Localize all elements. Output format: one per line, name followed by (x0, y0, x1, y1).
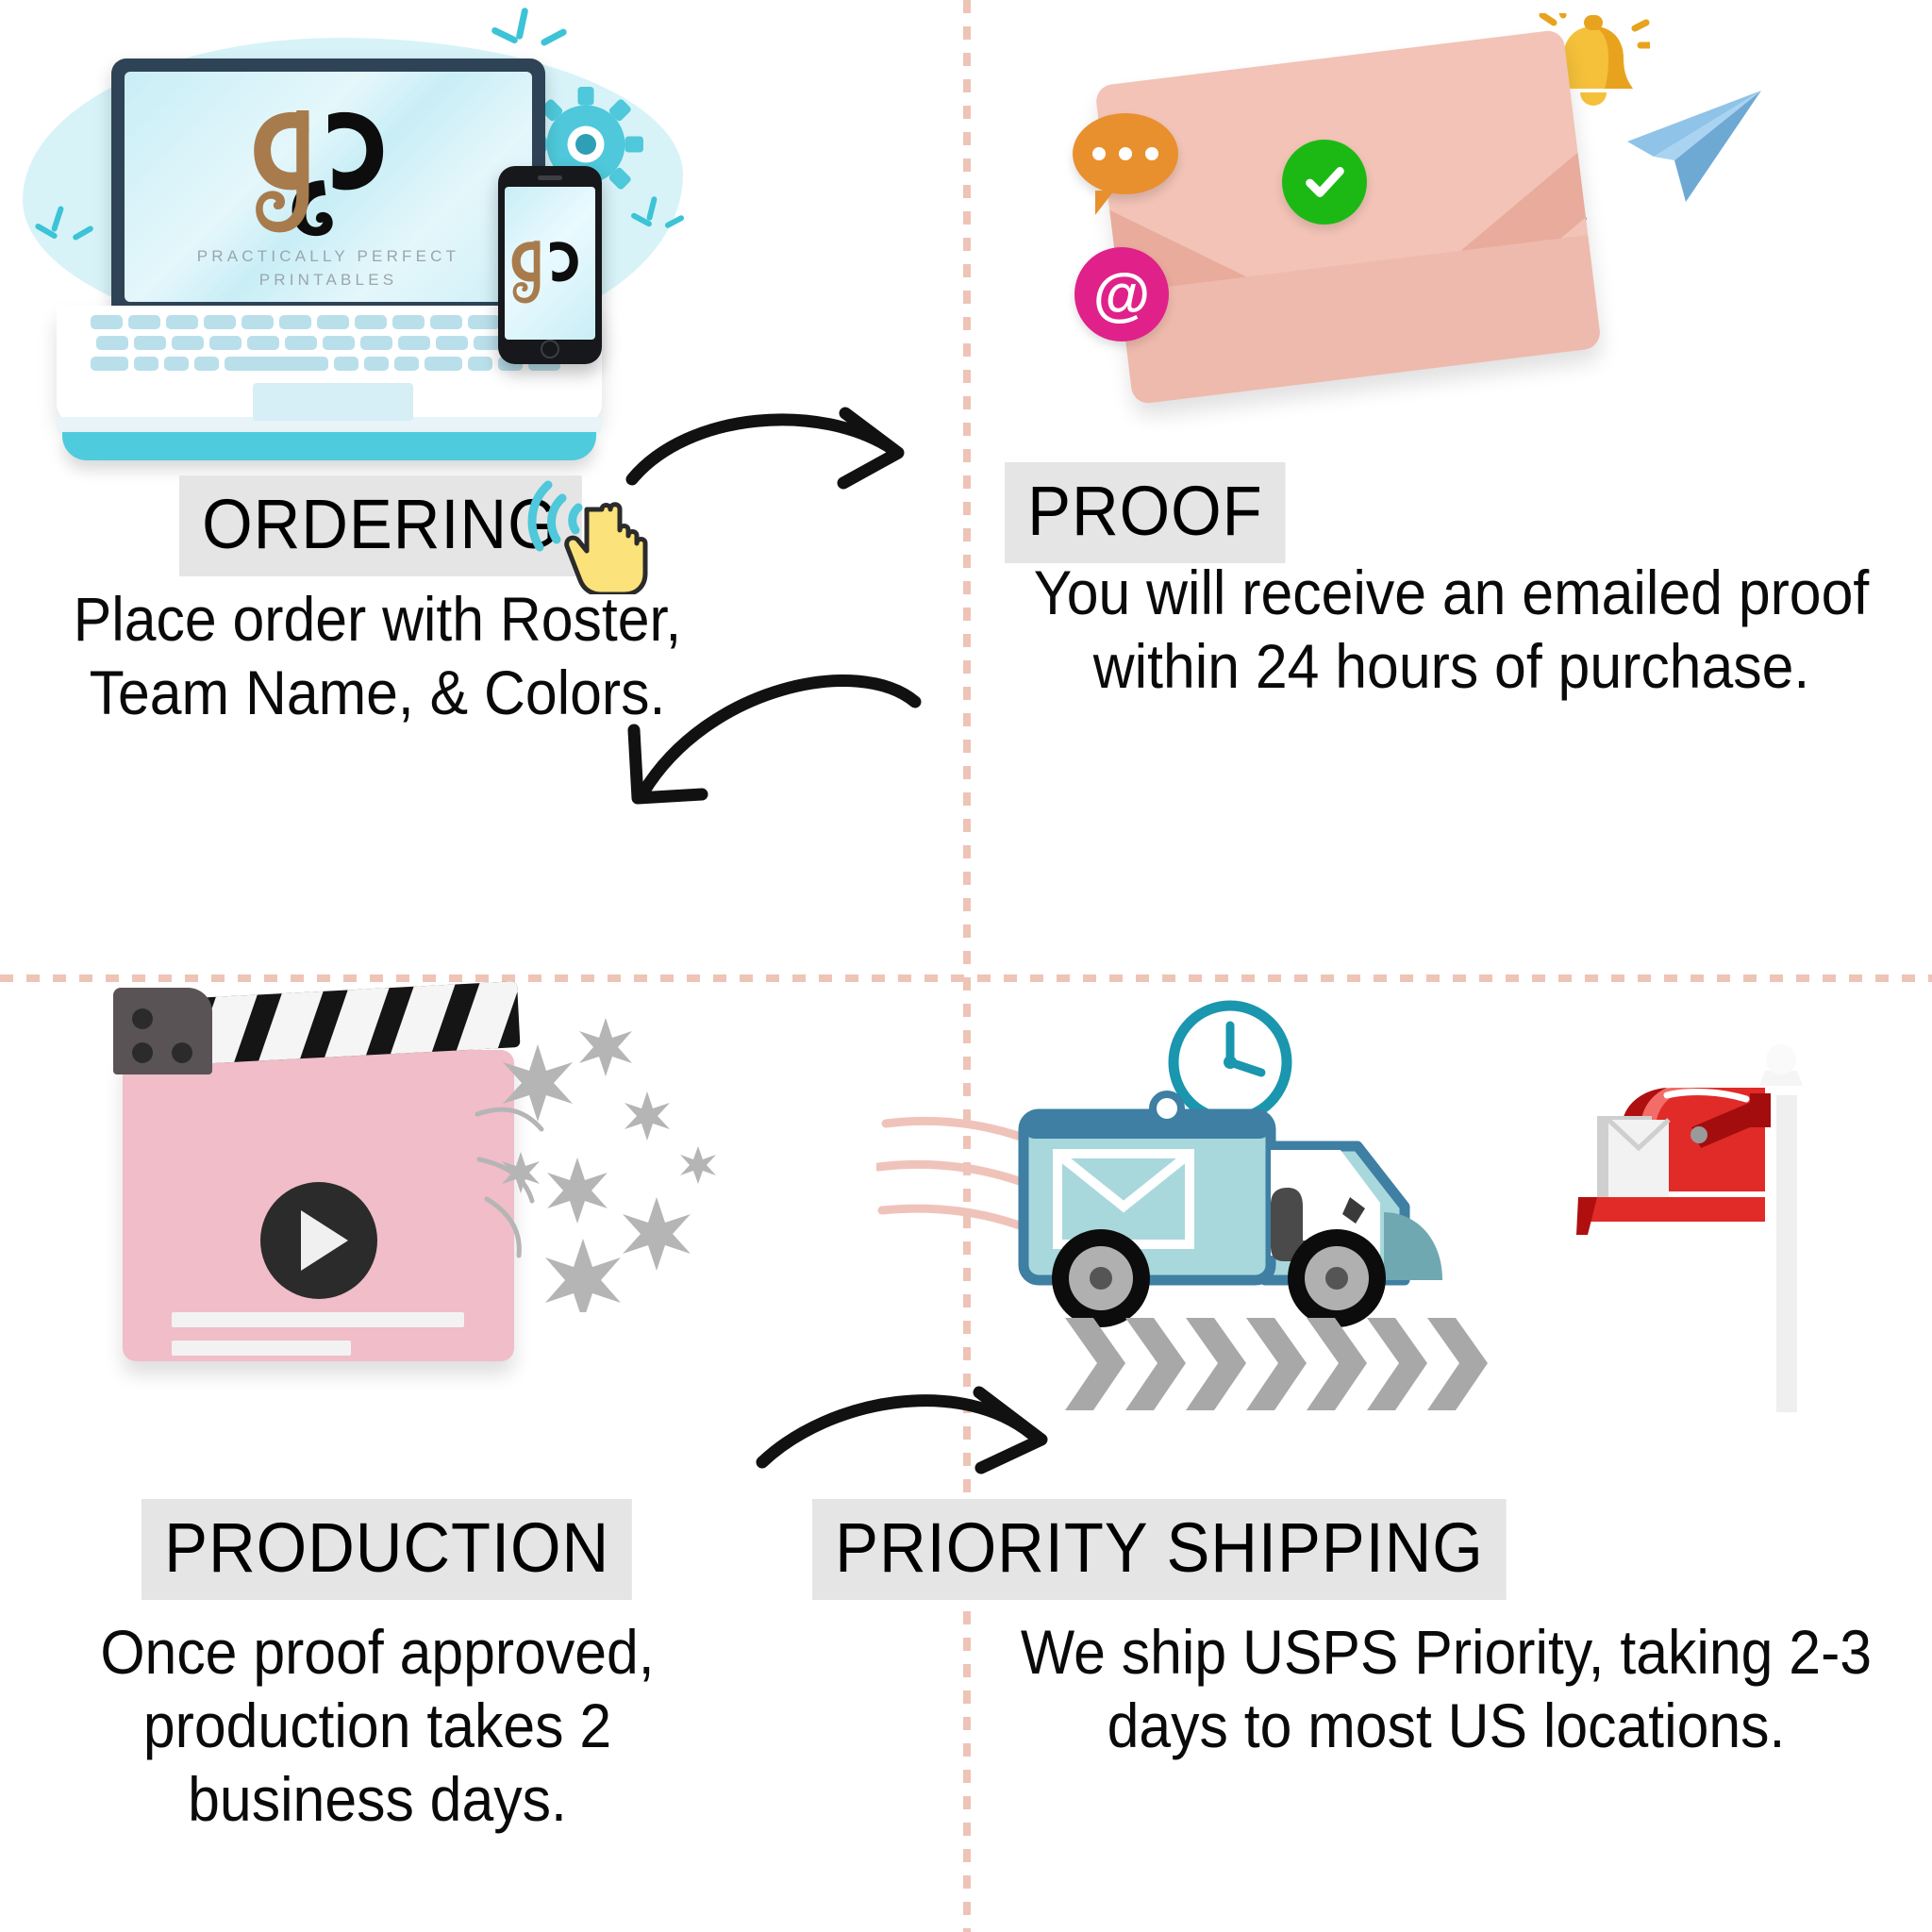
laptop-base-edge (62, 432, 596, 460)
vertical-dotted-divider (963, 0, 971, 1932)
clapper-line (172, 1312, 464, 1327)
production-title-wrap: PRODUCTION (142, 1499, 669, 1600)
infographic-canvas: PRACTICALLY PERFECT PRINTABLES (0, 0, 1932, 1932)
shipping-title-wrap: PRIORITY SHIPPING (812, 1499, 1558, 1600)
step-body: Place order with Roster, Team Name, & Co… (47, 583, 707, 730)
sparkle-burst-decoration (472, 1001, 745, 1312)
laptop-screen: PRACTICALLY PERFECT PRINTABLES (111, 58, 545, 311)
at-symbol-badge-icon: @ (1074, 247, 1169, 341)
smartphone (498, 166, 602, 364)
ellipsis-dots (1092, 147, 1158, 160)
laptop-trackpad (253, 383, 413, 421)
step-title: PRODUCTION (142, 1499, 632, 1600)
step-shipping: PRIORITY SHIPPING We ship USPS Priority,… (971, 982, 1932, 1932)
step-body: Once proof approved, production takes 2 … (47, 1616, 707, 1837)
speed-chevrons-decoration (1065, 1312, 1556, 1416)
step-title: ORDERING (179, 475, 582, 576)
green-check-circle-icon (1282, 140, 1367, 225)
proof-title-wrap: PROOF (1005, 462, 1307, 563)
step-title: PRIORITY SHIPPING (812, 1499, 1507, 1600)
clapperboard-body (123, 1050, 514, 1361)
step-production: PRODUCTION Once proof approved, producti… (0, 982, 963, 1932)
pointing-hand-click-icon (525, 472, 666, 594)
phone-home-button (541, 340, 559, 358)
pp-monogram-logo (125, 96, 532, 238)
play-button-icon (260, 1182, 377, 1299)
laptop-display: PRACTICALLY PERFECT PRINTABLES (125, 72, 532, 302)
phone-speaker (538, 175, 562, 180)
brand-line-2: PRINTABLES (125, 269, 532, 292)
step-body: We ship USPS Priority, taking 2-3 days t… (995, 1616, 1898, 1763)
step-ordering: PRACTICALLY PERFECT PRINTABLES (0, 0, 963, 974)
step-title: PROOF (1005, 462, 1286, 563)
phone-display (505, 187, 595, 340)
step-proof: @ PROOF You will receive an emailed proo… (971, 0, 1932, 974)
step-body: You will receive an emailed proof within… (1009, 557, 1893, 704)
chat-bubble-ellipsis-icon (1073, 113, 1178, 194)
clapperboard-hinge (113, 988, 212, 1074)
mail-truck-icon (914, 1056, 1518, 1348)
brand-line-1: PRACTICALLY PERFECT (125, 245, 532, 269)
clapper-line (172, 1341, 351, 1356)
brand-name: PRACTICALLY PERFECT PRINTABLES (125, 245, 532, 291)
mailbox-icon (1565, 1039, 1886, 1416)
